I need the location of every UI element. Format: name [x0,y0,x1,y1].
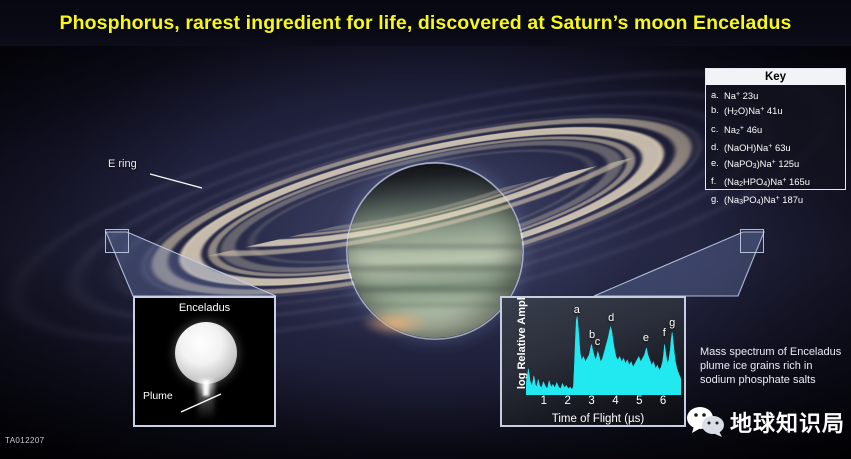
key-item-letter: d. [711,140,724,155]
key-item-letter: a. [711,88,724,103]
key-item-letter: g. [711,192,724,210]
x-tick-3: 3 [588,395,594,407]
left-callout-box [105,229,129,253]
key-header: Key [706,69,845,85]
e-ring-label: E ring [108,158,137,170]
key-item-formula: (Na2HPO4)Na+ 165u [724,174,810,192]
peak-label-e: e [643,332,649,344]
key-item-c: c.Na2+ 46u [711,122,845,140]
peak-label-g: g [669,317,675,329]
peak-label-d: d [608,312,614,324]
title-bar: Phosphorus, rarest ingredient for life, … [0,0,851,46]
plume-label: Plume [143,390,173,402]
key-item-e: e.(NaPO3)Na+ 125u [711,156,845,174]
plume-leader-line [179,390,225,416]
mass-spectrum-inset: log Relative Amplitude abcdefg 123456 Ti… [500,296,686,427]
spectrum-caption: Mass spectrum of Enceladus plume ice gra… [700,345,850,387]
enceladus-moon-image [175,322,237,384]
watermark-text: 地球知识局 [730,406,845,438]
e-ring-leader-line [150,172,208,190]
key-legend-box: Key a.Na+ 23ub.(H2O)Na+ 41uc.Na2+ 46ud.(… [705,68,846,190]
x-tick-1: 1 [541,395,547,407]
chart-x-axis: 123456 [526,395,681,409]
infographic-root: Phosphorus, rarest ingredient for life, … [0,0,851,459]
key-item-d: d.(NaOH)Na+ 63u [711,140,845,155]
key-item-formula: (Na3PO4)Na+ 187u [724,192,803,210]
key-item-formula: (NaOH)Na+ 63u [724,140,791,155]
key-item-f: f.(Na2HPO4)Na+ 165u [711,174,845,192]
key-item-formula: (H2O)Na+ 41u [724,103,783,121]
enceladus-inset: Enceladus Plume [133,296,276,427]
image-id-text: TA012207 [5,436,45,445]
key-item-letter: e. [711,156,724,174]
key-item-formula: (NaPO3)Na+ 125u [724,156,799,174]
x-tick-5: 5 [636,395,642,407]
spectrum-trace [526,304,681,395]
right-callout-connector [560,228,770,306]
page-title: Phosphorus, rarest ingredient for life, … [60,12,792,35]
chart-plot-area: abcdefg [526,304,681,395]
key-item-letter: f. [711,174,724,192]
key-item-g: g.(Na3PO4)Na+ 187u [711,192,845,210]
wechat-icon [686,405,726,439]
x-tick-4: 4 [612,395,618,407]
x-tick-2: 2 [565,395,571,407]
enceladus-label: Enceladus [135,302,274,314]
key-item-letter: b. [711,103,724,121]
key-item-b: b.(H2O)Na+ 41u [711,103,845,121]
key-item-formula: Na2+ 46u [724,122,762,140]
x-tick-6: 6 [660,395,666,407]
key-item-letter: c. [711,122,724,140]
peak-label-a: a [574,304,580,316]
chart-x-axis-label: Time of Flight (µs) [512,413,684,425]
peak-label-c: c [595,336,601,348]
peak-label-f: f [663,327,666,339]
left-callout-connector [100,228,300,306]
key-item-a: a.Na+ 23u [711,88,845,103]
key-item-formula: Na+ 23u [724,88,758,103]
watermark: 地球知识局 [686,405,845,439]
key-list: a.Na+ 23ub.(H2O)Na+ 41uc.Na2+ 46ud.(NaOH… [706,85,845,211]
right-callout-box [740,229,764,253]
